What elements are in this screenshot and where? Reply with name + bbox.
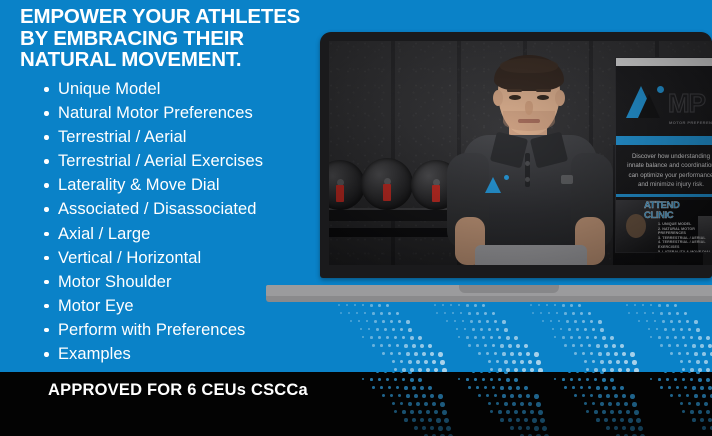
halftone-dot: [492, 386, 495, 389]
halftone-dot: [492, 344, 495, 347]
halftone-dot: [560, 328, 562, 330]
halftone-dot: [402, 378, 405, 381]
halftone-dot: [380, 312, 383, 315]
clinic-poster: ATTEND CLINIC 1. UNIQUE MODEL2. NATURAL …: [616, 200, 712, 253]
halftone-dot: [422, 426, 426, 430]
halftone-dot: [390, 320, 393, 323]
halftone-dot: [690, 368, 694, 372]
halftone-dot: [412, 418, 416, 422]
halftone-dot: [692, 418, 696, 422]
halftone-motif: [626, 302, 712, 372]
halftone-dot: [562, 304, 565, 307]
halftone-dot: [524, 344, 528, 348]
halftone-dot: [394, 410, 397, 413]
halftone-dot: [410, 378, 414, 382]
hair: [494, 55, 564, 91]
halftone-dot: [668, 312, 671, 315]
halftone-dot: [678, 394, 681, 397]
halftone-dot: [498, 410, 502, 414]
halftone-dot: [700, 418, 704, 422]
halftone-motif: [530, 372, 626, 436]
halftone-dot: [504, 402, 508, 406]
halftone-dot: [542, 320, 544, 322]
halftone-dot: [494, 394, 497, 397]
mp-dot-icon: [657, 86, 664, 93]
halftone-dot: [664, 328, 667, 331]
halftone-dot: [708, 386, 712, 390]
halftone-dot: [650, 378, 652, 380]
halftone-dot: [584, 372, 587, 373]
halftone-dot: [502, 352, 506, 356]
halftone-dot: [690, 378, 693, 381]
halftone-dot: [474, 378, 477, 381]
halftone-dot: [494, 352, 497, 355]
halftone-dot: [676, 386, 679, 389]
halftone-dot: [384, 328, 387, 331]
halftone-dot: [524, 386, 528, 390]
halftone-dot: [420, 418, 424, 422]
halftone-dot: [612, 418, 616, 422]
halftone-dot: [502, 394, 506, 398]
halftone-dot: [704, 360, 708, 364]
halftone-dot: [564, 386, 567, 389]
halftone-dot: [594, 336, 597, 339]
list-item: Terrestrial / Aerial Exercises: [44, 149, 344, 173]
halftone-dot: [694, 352, 698, 356]
halftone-dot: [580, 386, 583, 389]
halftone-dot: [516, 418, 520, 422]
halftone-dot: [694, 394, 698, 398]
halftone-dot: [516, 386, 520, 390]
halftone-dot: [346, 304, 348, 306]
halftone-dot: [422, 352, 426, 356]
halftone-dot: [442, 304, 444, 306]
slide-canvas: EMPOWER YOUR ATHLETES BY EMBRACING THEIR…: [0, 0, 712, 436]
halftone-dot: [396, 312, 399, 315]
halftone-dot: [414, 352, 418, 356]
halftone-dot: [602, 378, 606, 382]
halftone-dot: [590, 352, 593, 355]
eye-left: [509, 95, 521, 100]
halftone-dot: [600, 372, 604, 374]
halftone-dot: [668, 344, 671, 347]
halftone-dot: [618, 410, 622, 414]
halftone-dot: [666, 304, 669, 307]
halftone-dot: [690, 336, 693, 339]
halftone-dot: [676, 344, 679, 347]
halftone-dot: [650, 304, 652, 306]
halftone-dot: [388, 344, 391, 347]
halftone-dot: [648, 328, 650, 330]
halftone-dot: [704, 402, 708, 406]
halftone-dot: [396, 344, 399, 347]
halftone-dot: [606, 394, 610, 398]
halftone-dot: [510, 426, 514, 430]
halftone-dot: [506, 378, 510, 382]
halftone-dot: [608, 402, 612, 406]
halftone-dot: [636, 312, 638, 314]
halftone-dot: [410, 336, 414, 340]
halftone-dot: [402, 368, 406, 372]
halftone-dot: [376, 372, 379, 373]
halftone-dot: [572, 344, 575, 347]
dumbbell: [329, 160, 365, 210]
halftone-dot: [524, 418, 528, 422]
halftone-dot: [596, 344, 600, 348]
halftone-dot: [354, 304, 356, 306]
halftone-dot: [692, 386, 696, 390]
halftone-dot: [486, 320, 489, 323]
halftone-dot: [680, 360, 683, 363]
banner-accent-rule-2: [616, 194, 712, 197]
dumbbell: [361, 158, 413, 210]
poster-title-line-2: CLINIC: [644, 211, 679, 221]
halftone-dot: [518, 352, 522, 356]
halftone-dot: [418, 378, 422, 382]
halftone-dot: [496, 328, 499, 331]
list-item: Perform with Preferences: [44, 318, 344, 342]
halftone-dot: [370, 378, 373, 381]
halftone-dot: [574, 320, 577, 323]
banner-copy-line: innate balance and coordination: [620, 161, 712, 170]
halftone-dot: [582, 352, 585, 355]
banner-copy-line: and minimize injury risk.: [620, 180, 712, 189]
halftone-dot: [490, 378, 493, 381]
halftone-dot: [614, 352, 618, 356]
halftone-dot: [372, 386, 375, 389]
halftone-dot: [436, 312, 438, 314]
halftone-dot: [662, 320, 665, 323]
halftone-dot: [504, 360, 508, 364]
halftone-dot: [658, 378, 661, 381]
halftone-dot: [390, 352, 393, 355]
halftone-dot: [420, 386, 424, 390]
halftone-dot: [500, 344, 504, 348]
halftone-dot: [494, 320, 497, 323]
halftone-dot: [644, 312, 646, 314]
halftone-dot: [664, 372, 667, 373]
halftone-dot: [480, 372, 483, 373]
halftone-dot: [674, 336, 677, 339]
halftone-dot: [598, 352, 602, 356]
ear-right: [555, 90, 565, 106]
halftone-dot: [706, 378, 710, 382]
halftone-dot: [378, 378, 381, 381]
halftone-dot: [592, 402, 595, 405]
list-item: Associated / Disassociated: [44, 197, 344, 221]
eyebrow-right: [536, 89, 551, 92]
halftone-dot: [404, 386, 408, 390]
halftone-dot: [638, 320, 640, 322]
halftone-dot: [570, 336, 573, 339]
halftone-dot: [550, 320, 552, 322]
halftone-dot: [574, 394, 577, 397]
halftone-dot: [484, 312, 487, 315]
topic-bullet-list: Unique ModelNatural Motor PreferencesTer…: [44, 77, 344, 366]
halftone-dot: [592, 372, 595, 373]
halftone-dot: [470, 320, 473, 323]
halftone-dot: [520, 402, 524, 406]
halftone-dot: [590, 320, 593, 323]
banner-copy-text: Discover how understandinginnate balance…: [620, 152, 712, 190]
halftone-dot: [698, 378, 702, 382]
halftone-dot: [428, 386, 432, 390]
halftone-dot: [386, 304, 389, 307]
halftone-dot: [416, 402, 420, 406]
halftone-dot: [660, 312, 663, 315]
halftone-dot: [580, 344, 583, 347]
halftone-dot: [478, 394, 481, 397]
halftone-dot: [578, 336, 581, 339]
shirt-button: [525, 161, 530, 166]
halftone-dot: [444, 312, 446, 314]
halftone-dot: [408, 372, 412, 374]
list-item: Terrestrial / Aerial: [44, 125, 344, 149]
halftone-dot: [412, 386, 416, 390]
halftone-dot: [614, 426, 618, 430]
halftone-dot: [446, 320, 448, 322]
halftone-dot: [388, 386, 391, 389]
halftone-dot: [368, 328, 370, 330]
laptop-mockup: MP MOTOR PREFERENCES CO Discover how und…: [311, 30, 712, 290]
halftone-dot: [514, 336, 518, 340]
halftone-dot: [500, 386, 504, 390]
halftone-dot: [508, 386, 512, 390]
halftone-motif: [626, 372, 712, 436]
headline-line-1: EMPOWER YOUR ATHLETES: [20, 6, 340, 28]
halftone-dot: [594, 410, 598, 414]
halftone-dot: [530, 304, 532, 306]
halftone-dot: [500, 418, 504, 422]
halftone-dot: [418, 410, 422, 414]
halftone-dot: [406, 394, 410, 398]
halftone-dot: [684, 312, 687, 315]
halftone-dot: [660, 386, 663, 389]
halftone-dot: [658, 336, 661, 339]
halftone-dot: [692, 344, 696, 348]
halftone-dot: [510, 352, 514, 356]
halftone-dot: [682, 336, 685, 339]
halftone-dot: [506, 410, 510, 414]
halftone-dot: [564, 344, 567, 347]
halftone-dot: [686, 352, 689, 355]
halftone-dot: [394, 378, 397, 381]
halftone-dot: [552, 328, 554, 330]
halftone-dot: [490, 368, 493, 371]
halftone-dot: [634, 304, 636, 306]
halftone-dot: [650, 336, 652, 338]
halftone-dot: [422, 394, 426, 398]
halftone-dot: [670, 320, 673, 323]
halftone-dot: [670, 352, 673, 355]
sleeve-brand-mark: [561, 175, 573, 184]
halftone-dot: [578, 304, 581, 307]
halftone-dot: [478, 320, 481, 323]
halftone-dot: [642, 304, 644, 306]
halftone-dot: [410, 410, 414, 414]
halftone-dot: [708, 418, 712, 422]
halftone-dot: [424, 360, 428, 364]
halftone-motif: [338, 302, 434, 372]
halftone-dot: [600, 360, 604, 364]
halftone-dot: [610, 410, 614, 414]
poster-list-item: 2. NATURAL MOTOR PREFERENCES: [658, 227, 712, 236]
halftone-dot: [574, 352, 577, 355]
halftone-dot: [514, 410, 518, 414]
halftone-dot: [372, 344, 375, 347]
halftone-dot: [400, 360, 403, 363]
halftone-dot: [540, 312, 542, 314]
halftone-motif: [434, 372, 530, 436]
halftone-dot: [518, 426, 522, 430]
halftone-dot: [468, 312, 471, 315]
halftone-dot: [614, 394, 618, 398]
halftone-dot: [678, 352, 681, 355]
mp-triangle-inner-icon: [638, 94, 660, 118]
halftone-dot: [358, 320, 360, 322]
halftone-dot: [516, 344, 520, 348]
poster-title: ATTEND CLINIC: [644, 201, 679, 221]
halftone-dot: [384, 372, 387, 373]
halftone-dot: [506, 336, 510, 340]
halftone-dot: [612, 386, 616, 390]
halftone-dot: [554, 336, 556, 338]
halftone-motif: [434, 302, 530, 372]
eye-right: [537, 95, 549, 100]
halftone-dot: [492, 312, 495, 315]
ear-left: [493, 90, 503, 106]
halftone-dot: [374, 320, 377, 323]
video-frame: MP MOTOR PREFERENCES CO Discover how und…: [329, 41, 712, 265]
halftone-dot: [488, 402, 491, 405]
halftone-dot: [700, 386, 704, 390]
halftone-dot: [570, 304, 573, 307]
halftone-dot: [604, 344, 608, 348]
halftone-dot: [612, 344, 616, 348]
halftone-dot: [520, 360, 524, 364]
nose: [525, 101, 533, 115]
halftone-dot: [608, 360, 612, 364]
halftone-dot: [598, 320, 602, 324]
halftone-dot: [504, 328, 508, 332]
halftone-dot: [606, 426, 610, 430]
list-item: Unique Model: [44, 77, 344, 101]
halftone-dot: [458, 336, 460, 338]
laptop-lid: MP MOTOR PREFERENCES CO Discover how und…: [320, 32, 712, 278]
halftone-dot: [688, 360, 691, 363]
halftone-dot: [688, 372, 691, 373]
halftone-dot: [370, 336, 373, 339]
halftone-dot: [496, 372, 499, 373]
halftone-dot: [588, 386, 591, 389]
halftone-dot: [598, 394, 602, 398]
halftone-dot: [496, 402, 499, 405]
halftone-dot: [394, 368, 397, 371]
halftone-dot: [362, 378, 364, 380]
halftone-dot: [400, 328, 403, 331]
halftone-dot: [686, 394, 689, 397]
halftone-dot: [458, 378, 460, 380]
halftone-dot: [672, 328, 675, 331]
halftone-dot: [498, 378, 501, 381]
halftone-dot: [360, 328, 362, 330]
halftone-dot: [562, 336, 565, 339]
halftone-dot: [450, 304, 452, 306]
laptop-screen[interactable]: MP MOTOR PREFERENCES CO Discover how und…: [329, 41, 712, 265]
halftone-dot: [616, 360, 620, 364]
halftone-dot: [426, 410, 430, 414]
halftone-dot: [602, 336, 606, 340]
halftone-dot: [364, 312, 366, 314]
halftone-dot: [456, 328, 458, 330]
halftone-dot: [482, 336, 485, 339]
banner-logo: MP MOTOR PREFERENCES CO: [624, 84, 712, 126]
halftone-dot: [606, 352, 610, 356]
halftone-dot: [394, 336, 397, 339]
halftone-dot: [396, 386, 399, 389]
halftone-dot: [512, 360, 516, 364]
halftone-dot: [458, 304, 460, 306]
halftone-dot: [382, 394, 385, 397]
halftone-dot: [620, 386, 624, 390]
halftone-dot: [462, 320, 464, 322]
halftone-dot: [412, 344, 416, 348]
halftone-dot: [490, 336, 493, 339]
halftone-dot: [576, 328, 579, 331]
halftone-dot: [508, 344, 512, 348]
halftone-dot: [570, 378, 573, 381]
halftone-dot: [628, 312, 630, 314]
halftone-dot: [460, 312, 462, 314]
halftone-dot: [646, 320, 648, 322]
halftone-dot: [688, 402, 691, 405]
halftone-dot: [486, 394, 489, 397]
halftone-dot: [658, 304, 661, 307]
banner-copy-line: can optimize your performance: [620, 171, 712, 180]
halftone-dot: [382, 352, 385, 355]
halftone-dot: [688, 328, 691, 331]
halftone-dot: [380, 344, 383, 347]
halftone-dot: [554, 378, 556, 380]
halftone-dot: [586, 378, 589, 381]
halftone-dot: [588, 312, 591, 315]
list-item: Vertical / Horizontal: [44, 246, 344, 270]
halftone-dot: [562, 378, 565, 381]
halftone-dot: [362, 304, 364, 306]
halftone-dot: [554, 304, 556, 306]
halftone-dot: [586, 368, 589, 371]
halftone-dot: [468, 386, 471, 389]
list-item: Axial / Large: [44, 222, 344, 246]
halftone-dot: [382, 320, 385, 323]
halftone-dot: [594, 378, 597, 381]
banner-copy-line: Discover how understanding: [620, 152, 712, 161]
halftone-dot: [558, 320, 560, 322]
halftone-dot: [414, 426, 418, 430]
halftone-dot: [674, 378, 677, 381]
halftone-dot: [428, 344, 432, 348]
halftone-dot: [414, 394, 418, 398]
halftone-dot: [698, 336, 702, 340]
halftone-dot: [682, 410, 685, 413]
halftone-dot: [408, 360, 412, 364]
halftone-dot: [488, 328, 491, 331]
halftone-dot: [398, 320, 401, 323]
laptop-base-edge: [266, 296, 712, 302]
halftone-dots-on-black: [330, 372, 712, 436]
halftone-dot: [668, 386, 671, 389]
halftone-dot: [684, 344, 687, 347]
